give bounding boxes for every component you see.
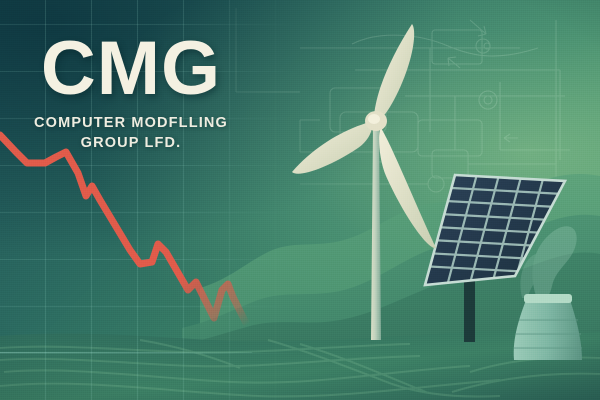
vignette-overlay (0, 0, 600, 400)
poster-canvas: CMG COMPUTER MODFLLING GROUP LFD. (0, 0, 600, 400)
